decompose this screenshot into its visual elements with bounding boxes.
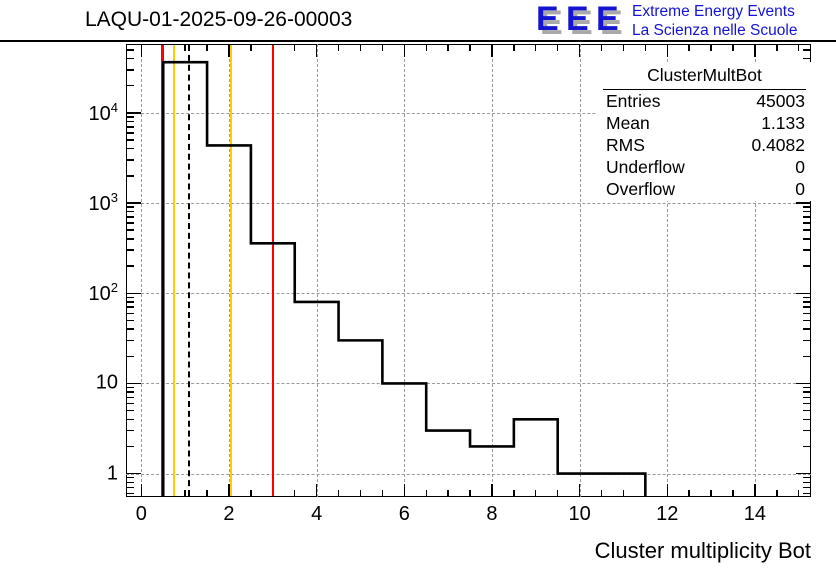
x-axis-tick bbox=[382, 44, 383, 51]
y-axis-tick bbox=[803, 49, 811, 50]
y-axis-tick bbox=[126, 238, 134, 239]
stats-row-value: 0 bbox=[795, 157, 805, 178]
x-axis-tick bbox=[776, 490, 777, 497]
y-axis-tick bbox=[126, 249, 134, 250]
stats-row-value: 0.4082 bbox=[751, 135, 805, 156]
y-axis-tick bbox=[803, 482, 811, 483]
y-axis-tick bbox=[803, 397, 811, 398]
eee-logo-text: Extreme Energy Events La Scienza nelle S… bbox=[632, 2, 797, 40]
x-axis-tick bbox=[469, 44, 470, 51]
x-tick-label: 4 bbox=[311, 503, 322, 526]
y-axis-tick bbox=[803, 58, 811, 59]
y-axis-tick bbox=[126, 293, 141, 294]
y-tick-label: 103 bbox=[89, 190, 118, 216]
y-axis-tick bbox=[126, 148, 134, 149]
y-axis-tick bbox=[126, 211, 134, 212]
eee-logo-line1: Extreme Energy Events bbox=[632, 2, 797, 21]
y-axis-tick bbox=[126, 121, 134, 122]
y-axis-tick bbox=[126, 85, 134, 86]
y-axis-tick bbox=[803, 306, 811, 307]
grid-line-horizontal bbox=[126, 474, 811, 475]
y-axis-tick bbox=[126, 320, 134, 321]
y-axis-tick bbox=[126, 297, 134, 298]
y-axis-tick bbox=[126, 328, 134, 329]
y-axis-tick bbox=[126, 132, 134, 133]
marker-line-orange-right-cut bbox=[230, 45, 232, 496]
x-axis-tick bbox=[360, 490, 361, 497]
y-axis-tick bbox=[803, 493, 811, 494]
stats-row-value: 0 bbox=[795, 179, 805, 200]
y-axis-tick bbox=[796, 202, 811, 203]
x-axis-tick bbox=[294, 44, 295, 51]
y-axis-tick bbox=[126, 222, 134, 223]
x-axis-tick bbox=[294, 490, 295, 497]
x-axis-tick bbox=[338, 44, 339, 51]
y-axis-tick bbox=[126, 159, 134, 160]
grid-line-horizontal bbox=[126, 383, 811, 384]
y-axis-tick bbox=[126, 265, 134, 266]
y-axis-tick bbox=[803, 340, 811, 341]
x-axis-tick bbox=[360, 44, 361, 51]
root-canvas: LAQU-01-2025-09-26-00003 E E E E E E Ext… bbox=[0, 0, 836, 572]
y-axis-tick bbox=[803, 297, 811, 298]
y-axis-tick bbox=[126, 301, 134, 302]
x-axis-tick bbox=[316, 484, 317, 497]
x-axis-tick bbox=[645, 490, 646, 497]
eee-logo-line2: La Scienza nelle Scuole bbox=[632, 21, 797, 40]
y-axis-tick bbox=[796, 293, 811, 294]
x-axis-tick bbox=[206, 44, 207, 51]
x-axis-tick bbox=[623, 44, 624, 51]
y-axis-tick bbox=[126, 446, 134, 447]
stats-row-value: 1.133 bbox=[761, 113, 805, 134]
y-axis-tick bbox=[126, 112, 141, 113]
x-axis-tick bbox=[688, 490, 689, 497]
y-axis-tick bbox=[126, 229, 134, 230]
x-axis-title: Cluster multiplicity Bot bbox=[595, 538, 811, 564]
stats-row-key: Entries bbox=[606, 91, 660, 112]
stats-box: ClusterMultBot Entries45003Mean1.133RMS0… bbox=[596, 62, 813, 201]
x-axis-tick bbox=[513, 44, 514, 51]
y-axis-tick bbox=[803, 419, 811, 420]
y-axis-tick bbox=[126, 473, 141, 474]
y-axis-tick bbox=[126, 340, 134, 341]
grid-line-horizontal bbox=[126, 293, 811, 294]
y-axis-tick bbox=[803, 216, 811, 217]
y-axis-tick bbox=[803, 328, 811, 329]
y-axis-tick bbox=[126, 387, 134, 388]
y-axis-tick bbox=[803, 487, 811, 488]
x-axis-tick bbox=[382, 490, 383, 497]
y-axis-tick bbox=[803, 222, 811, 223]
x-tick-label: 10 bbox=[568, 503, 590, 526]
y-axis-tick bbox=[126, 49, 134, 50]
y-axis-tick bbox=[126, 306, 134, 307]
x-axis-tick bbox=[754, 44, 755, 57]
x-axis-tick bbox=[141, 484, 142, 497]
stats-row-key: Underflow bbox=[606, 157, 685, 178]
y-axis-tick bbox=[126, 58, 134, 59]
x-axis-tick bbox=[732, 490, 733, 497]
y-axis-tick bbox=[803, 265, 811, 266]
page-title: LAQU-01-2025-09-26-00003 bbox=[85, 8, 352, 32]
stats-row: Entries45003 bbox=[597, 90, 812, 112]
x-axis-tick bbox=[184, 44, 185, 51]
x-axis-tick bbox=[798, 44, 799, 51]
x-axis-tick bbox=[579, 44, 580, 57]
marker-line-red-right-cut bbox=[272, 45, 274, 496]
x-axis-tick bbox=[491, 44, 492, 57]
x-axis-tick bbox=[469, 490, 470, 497]
marker-line-mean-dashed bbox=[188, 45, 190, 496]
stats-row-key: Overflow bbox=[606, 179, 675, 200]
x-axis-tick bbox=[535, 44, 536, 51]
x-axis-tick bbox=[404, 484, 405, 497]
x-axis-tick bbox=[645, 44, 646, 51]
y-axis-tick bbox=[126, 383, 141, 384]
x-axis-tick bbox=[579, 484, 580, 497]
y-axis-tick bbox=[803, 430, 811, 431]
x-axis-tick bbox=[426, 490, 427, 497]
y-axis-tick bbox=[803, 403, 811, 404]
x-axis-tick bbox=[667, 484, 668, 497]
y-axis-tick bbox=[803, 410, 811, 411]
y-axis-tick bbox=[126, 487, 134, 488]
y-axis-tick bbox=[126, 356, 134, 357]
eee-letter-3: E bbox=[596, 4, 622, 36]
y-axis-tick bbox=[126, 206, 134, 207]
stats-row: Mean1.133 bbox=[597, 112, 812, 134]
y-axis-tick bbox=[126, 216, 134, 217]
x-axis-tick bbox=[338, 490, 339, 497]
y-axis-tick bbox=[803, 446, 811, 447]
y-axis-tick bbox=[803, 211, 811, 212]
y-axis-tick bbox=[126, 410, 134, 411]
stats-row: Underflow0 bbox=[597, 156, 812, 178]
x-tick-label: 2 bbox=[223, 503, 234, 526]
x-axis-tick bbox=[513, 490, 514, 497]
x-axis-tick bbox=[447, 44, 448, 51]
stats-row-key: Mean bbox=[606, 113, 650, 134]
y-axis-tick bbox=[126, 202, 141, 203]
x-axis-tick bbox=[447, 490, 448, 497]
x-tick-label: 14 bbox=[744, 503, 766, 526]
x-axis-tick bbox=[667, 44, 668, 57]
x-axis-tick bbox=[184, 490, 185, 497]
stats-row-value: 45003 bbox=[756, 91, 805, 112]
y-axis-tick bbox=[796, 473, 811, 474]
y-axis-tick bbox=[126, 69, 134, 70]
x-axis-tick bbox=[710, 490, 711, 497]
x-axis-tick bbox=[250, 44, 251, 51]
x-axis-tick bbox=[404, 44, 405, 57]
marker-line-orange-left-cut bbox=[173, 45, 175, 496]
x-axis-tick bbox=[623, 490, 624, 497]
x-axis-tick bbox=[710, 44, 711, 51]
y-axis-tick bbox=[803, 387, 811, 388]
y-axis-tick bbox=[803, 391, 811, 392]
x-axis-tick bbox=[754, 484, 755, 497]
x-tick-label: 6 bbox=[399, 503, 410, 526]
x-axis-tick bbox=[141, 44, 142, 57]
x-tick-label: 0 bbox=[136, 503, 147, 526]
eee-logo-mark: E E E E E E bbox=[536, 4, 628, 38]
stats-box-title: ClusterMultBot bbox=[603, 63, 806, 90]
y-tick-label: 10 bbox=[96, 372, 118, 395]
x-axis-tick bbox=[601, 490, 602, 497]
y-axis-tick bbox=[126, 313, 134, 314]
x-tick-label: 12 bbox=[656, 503, 678, 526]
y-axis-tick bbox=[803, 356, 811, 357]
y-axis-tick bbox=[126, 493, 134, 494]
y-axis-tick bbox=[126, 116, 134, 117]
x-axis-tick bbox=[776, 44, 777, 51]
y-axis-tick bbox=[126, 397, 134, 398]
y-axis-tick bbox=[803, 301, 811, 302]
eee-letter-1: E bbox=[536, 4, 562, 36]
stats-row: Overflow0 bbox=[597, 178, 812, 200]
x-axis-tick bbox=[688, 44, 689, 51]
x-axis-tick bbox=[798, 490, 799, 497]
marker-line-red-left-cut bbox=[161, 45, 163, 496]
y-axis-tick bbox=[126, 477, 134, 478]
eee-letter-2: E bbox=[566, 4, 592, 36]
y-axis-tick bbox=[126, 175, 134, 176]
x-tick-label: 8 bbox=[486, 503, 497, 526]
x-axis-tick bbox=[601, 44, 602, 51]
y-axis-tick bbox=[803, 313, 811, 314]
x-axis-tick bbox=[250, 490, 251, 497]
y-axis-tick bbox=[803, 320, 811, 321]
stats-row-key: RMS bbox=[606, 135, 645, 156]
y-axis-tick bbox=[803, 477, 811, 478]
x-axis-tick bbox=[206, 490, 207, 497]
y-tick-label: 104 bbox=[89, 100, 118, 126]
y-axis-tick bbox=[803, 206, 811, 207]
x-axis-tick bbox=[557, 490, 558, 497]
y-axis-tick bbox=[126, 403, 134, 404]
y-axis-tick bbox=[803, 238, 811, 239]
grid-line-horizontal bbox=[126, 203, 811, 204]
stats-box-rows: Entries45003Mean1.133RMS0.4082Underflow0… bbox=[597, 90, 812, 200]
x-axis-tick bbox=[491, 484, 492, 497]
header-divider bbox=[0, 40, 836, 42]
x-axis-tick bbox=[732, 44, 733, 51]
x-axis-tick bbox=[316, 44, 317, 57]
x-axis-tick bbox=[557, 44, 558, 51]
y-axis-tick bbox=[126, 419, 134, 420]
y-axis-tick bbox=[126, 482, 134, 483]
y-axis-tick bbox=[126, 139, 134, 140]
x-axis-tick bbox=[426, 44, 427, 51]
stats-row: RMS0.4082 bbox=[597, 134, 812, 156]
eee-logo: E E E E E E Extreme Energy Events La Sci… bbox=[536, 2, 834, 42]
y-tick-label: 1 bbox=[107, 462, 118, 485]
y-axis-tick bbox=[126, 391, 134, 392]
y-axis-tick bbox=[803, 249, 811, 250]
y-axis-tick bbox=[796, 383, 811, 384]
y-tick-label: 102 bbox=[89, 280, 118, 306]
y-axis-tick bbox=[126, 430, 134, 431]
y-axis-tick bbox=[126, 126, 134, 127]
y-axis-tick bbox=[803, 229, 811, 230]
x-axis-tick bbox=[535, 490, 536, 497]
